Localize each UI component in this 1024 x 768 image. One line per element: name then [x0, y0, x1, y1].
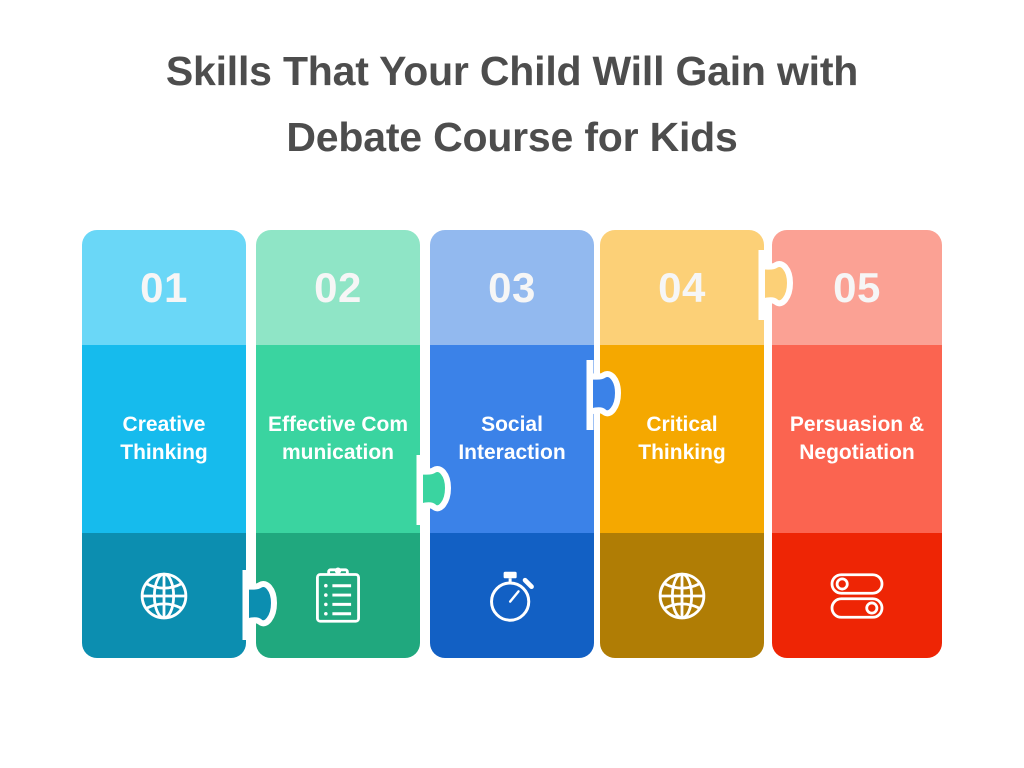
skill-card-4-number-band: 04: [600, 230, 764, 345]
toggle-switches-icon: [828, 571, 886, 621]
globe-icon: [654, 568, 710, 624]
skill-card-2-label: Effective Communication: [262, 411, 414, 467]
infographic-canvas: Skills That Your Child Will Gain with De…: [0, 0, 1024, 768]
skill-card-3-label: Social Interaction: [436, 411, 588, 467]
page-title-line-1: Skills That Your Child Will Gain with: [112, 38, 912, 104]
skill-card-5-label-band: Persuasion & Negotiation: [772, 345, 942, 533]
page-title-line-2: Debate Course for Kids: [112, 104, 912, 170]
skill-card-4-label: Critical Thinking: [606, 411, 758, 467]
stopwatch-icon: [485, 567, 539, 625]
skill-card-1-number: 01: [140, 264, 188, 312]
skill-card-4[interactable]: 04 Critical Thinking: [600, 230, 764, 658]
skill-card-3[interactable]: 03 Social Interaction: [430, 230, 594, 658]
skill-card-3-number-band: 03: [430, 230, 594, 345]
skill-card-2-label-band: Effective Communication: [256, 345, 420, 533]
skill-card-5-number-band: 05: [772, 230, 942, 345]
skill-card-3-label-band: Social Interaction: [430, 345, 594, 533]
skill-card-5-label: Persuasion & Negotiation: [778, 411, 936, 467]
skill-card-2[interactable]: 02 Effective Communication: [256, 230, 420, 658]
page-title: Skills That Your Child Will Gain with De…: [112, 38, 912, 171]
globe-icon: [136, 568, 192, 624]
skill-card-1[interactable]: 01 Creative Thinking: [82, 230, 246, 658]
skill-card-2-number: 02: [314, 264, 362, 312]
skill-card-5-icon-band: [772, 533, 942, 658]
skill-card-2-number-band: 02: [256, 230, 420, 345]
puzzle-board: 01 Creative Thinking: [82, 230, 942, 658]
skill-card-4-icon-band: [600, 533, 764, 658]
skill-card-3-number: 03: [488, 264, 536, 312]
skill-card-4-label-band: Critical Thinking: [600, 345, 764, 533]
skill-card-5[interactable]: 05 Persuasion & Negotiation: [772, 230, 942, 658]
skill-card-2-icon-band: [256, 533, 420, 658]
skill-card-4-number: 04: [658, 264, 706, 312]
skill-card-5-number: 05: [833, 264, 881, 312]
skill-card-1-label: Creative Thinking: [88, 411, 240, 467]
skill-card-1-number-band: 01: [82, 230, 246, 345]
skill-card-3-icon-band: [430, 533, 594, 658]
skill-card-1-label-band: Creative Thinking: [82, 345, 246, 533]
skill-card-1-icon-band: [82, 533, 246, 658]
clipboard-checklist-icon: [313, 567, 363, 625]
